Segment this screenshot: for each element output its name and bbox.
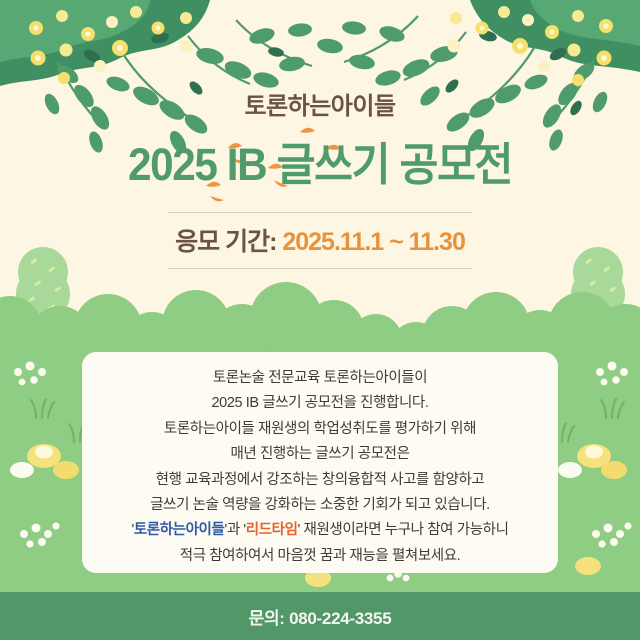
- body-line: 현행 교육과정에서 강조하는 창의융합적 사고를 함양하고: [82, 468, 558, 493]
- page-title: 2025 IB 글쓰기 공모전: [19, 128, 621, 193]
- flower-cluster-left: [29, 6, 193, 84]
- ground-flowers-right: [551, 362, 632, 548]
- flower-cluster-right: [448, 6, 614, 86]
- body-line: 2025 IB 글쓰기 공모전을 진행합니다.: [82, 391, 558, 416]
- body-line: 글쓰기 논술 역량을 강화하는 소중한 기회가 되고 있습니다.: [82, 493, 558, 518]
- brand-name: 토론하는아이들: [0, 86, 640, 121]
- body-line: 토론논술 전문교육 토론하는아이들이: [82, 366, 558, 391]
- quote-mid: '과 ': [224, 522, 245, 538]
- application-period-line: 응모 기간: 2025.11.1 ~ 11.30: [168, 213, 472, 268]
- content-card: 토론논술 전문교육 토론하는아이들이 2025 IB 글쓰기 공모전을 진행합니…: [82, 352, 558, 573]
- period-value: 2025.11.1 ~ 11.30: [282, 228, 465, 256]
- card-body-text: 토론논술 전문교육 토론하는아이들이 2025 IB 글쓰기 공모전을 진행합니…: [82, 366, 558, 569]
- body-line: 매년 진행하는 글쓰기 공모전은: [82, 442, 558, 467]
- poster-canvas: 토론하는아이들 2025 IB 글쓰기 공모전 응모 기간: 2025.11.1…: [0, 0, 640, 640]
- application-period-block: 응모 기간: 2025.11.1 ~ 11.30: [168, 212, 472, 269]
- body-line: 토론하는아이들 재원생의 학업성취도를 평가하기 위해: [82, 417, 558, 442]
- brand-highlight-orange: 리드타임: [246, 522, 298, 538]
- ground-flowers-left: [10, 362, 92, 548]
- body-line-closing: 적극 참여하여서 마음껏 꿈과 재능을 펼쳐보세요.: [82, 544, 558, 569]
- body-line-highlight: '토론하는아이들'과 '리드타임' 재원생이라면 누구나 참여 가능하니: [82, 518, 558, 543]
- brand-highlight-blue: 토론하는아이들: [134, 522, 225, 538]
- divider-bottom: [168, 268, 472, 269]
- tree-left: [16, 247, 70, 337]
- contact-phone: 문의: 080-224-3355: [249, 604, 392, 629]
- period-label: 응모 기간:: [175, 228, 282, 256]
- highlight-tail: ' 재원생이라면 누구나 참여 가능하니: [298, 522, 509, 538]
- footer-bar: 문의: 080-224-3355: [0, 592, 640, 640]
- tree-right: [571, 247, 625, 337]
